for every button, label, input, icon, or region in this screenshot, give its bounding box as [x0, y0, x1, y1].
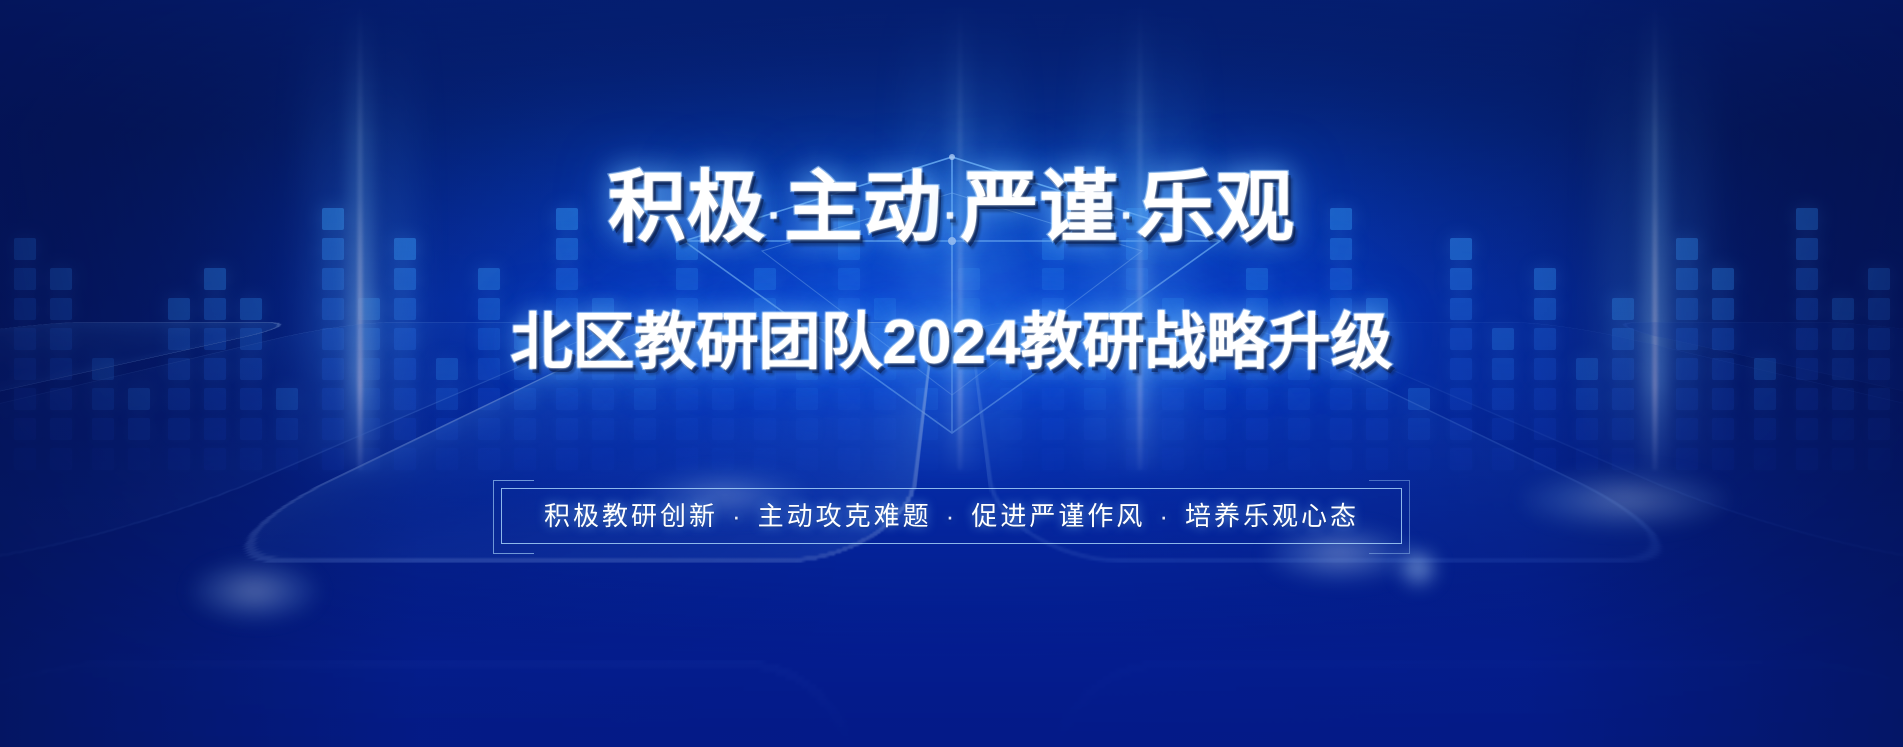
- headline-segment: 积极: [608, 163, 766, 251]
- headline-separator: ·: [768, 194, 782, 238]
- tagline-separator: ·: [1159, 501, 1171, 531]
- headline-segment: 乐观: [1137, 163, 1295, 251]
- tagline-segment: 促进严谨作风: [971, 501, 1145, 531]
- banner-content: 积极·主动·严谨·乐观 北区教研团队2024教研战略升级 积极教研创新·主动攻克…: [0, 0, 1903, 747]
- headline-separator: ·: [1121, 194, 1135, 238]
- banner-headline: 积极·主动·严谨·乐观: [608, 168, 1295, 246]
- banner-subheadline: 北区教研团队2024教研战略升级: [511, 312, 1393, 374]
- tagline-separator: ·: [732, 501, 744, 531]
- banner-tagline: 积极教研创新·主动攻克难题·促进严谨作风·培养乐观心态: [544, 503, 1359, 529]
- headline-segment: 严谨: [961, 163, 1119, 251]
- tagline-segment: 主动攻克难题: [758, 501, 932, 531]
- tagline-segment: 积极教研创新: [544, 501, 718, 531]
- headline-segment: 主动: [784, 163, 942, 251]
- promotional-banner: 积极·主动·严谨·乐观 北区教研团队2024教研战略升级 积极教研创新·主动攻克…: [0, 0, 1903, 747]
- tagline-segment: 培养乐观心态: [1185, 501, 1359, 531]
- headline-separator: ·: [944, 194, 958, 238]
- tagline-frame: 积极教研创新·主动攻克难题·促进严谨作风·培养乐观心态: [501, 488, 1402, 544]
- tagline-separator: ·: [946, 501, 958, 531]
